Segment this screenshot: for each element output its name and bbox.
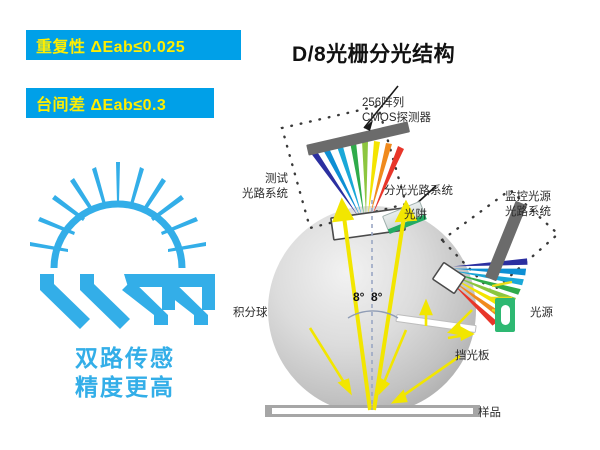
badge-inter-instrument-text: 台间差 ΔEab≤0.3 — [36, 91, 166, 115]
badge-inter-instrument: 台间差 ΔEab≤0.3 — [26, 88, 214, 118]
label-monitor-optics: 监控光源 光路系统 — [505, 190, 551, 219]
label-monitor-optics-line-2: 光路系统 — [505, 205, 551, 220]
label-angle-left: 8° — [353, 290, 364, 304]
label-integrating-sphere: 积分球 — [233, 306, 268, 321]
badge-repeatability-text: 重复性 ΔEab≤0.025 — [36, 33, 185, 57]
page-title: D/8光栅分光结构 — [292, 38, 455, 68]
label-test-optics-line-2: 光路系统 — [228, 187, 288, 202]
label-light-source: 光源 — [530, 306, 553, 321]
label-spectrometer-optics: 分光光路系统 — [384, 184, 453, 199]
label-test-optics: 测试 光路系统 — [228, 172, 288, 201]
test-optics-spectrum-fan — [310, 141, 404, 216]
label-monitor-optics-line-1: 监控光源 — [505, 190, 551, 205]
label-cmos-detector-line-2: CMOS探测器 — [362, 111, 431, 126]
label-sample: 样品 — [478, 406, 501, 421]
tagline-line-1: 双路传感 — [30, 344, 220, 373]
sun-arrow-logo-icon — [18, 150, 218, 340]
diagram-canvas: 重复性 ΔEab≤0.025 台间差 ΔEab≤0.3 — [0, 0, 600, 450]
integrating-sphere — [268, 206, 476, 414]
label-cmos-detector: 256阵列 CMOS探测器 — [362, 96, 431, 125]
label-test-optics-line-1: 测试 — [228, 172, 288, 187]
lamp-bulb — [501, 305, 510, 325]
lamp-icon — [495, 298, 515, 332]
label-cmos-detector-line-1: 256阵列 — [362, 96, 431, 111]
cmos-detector-icon — [306, 121, 410, 155]
label-baffle: 挡光板 — [455, 349, 490, 364]
label-angle-right: 8° — [371, 290, 382, 304]
tagline: 双路传感 精度更高 — [30, 344, 220, 402]
label-light-trap: 光阱 — [404, 208, 427, 223]
optical-system-illustration — [210, 80, 600, 440]
badge-repeatability: 重复性 ΔEab≤0.025 — [26, 30, 241, 60]
tagline-line-2: 精度更高 — [30, 373, 220, 402]
